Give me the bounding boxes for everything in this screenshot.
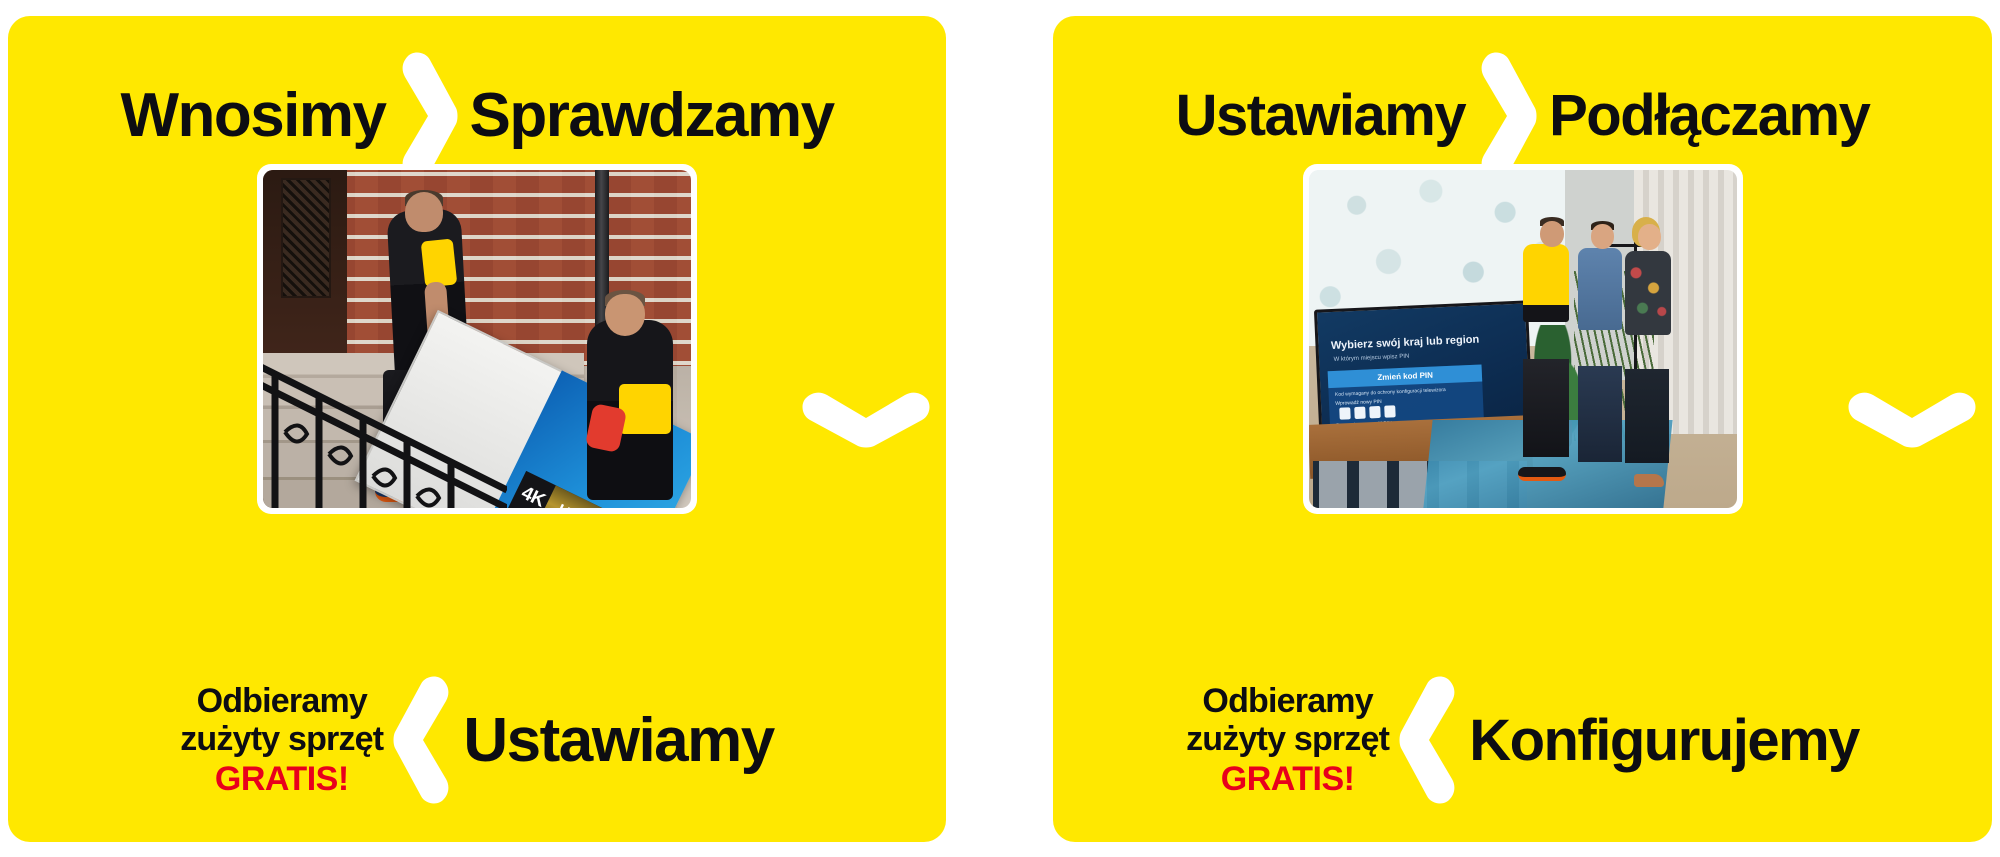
installer-head (1540, 221, 1564, 247)
tv-pin-box (1370, 406, 1382, 418)
chevron-right-icon (1475, 50, 1539, 182)
recycle-line-1: Odbieramy (180, 682, 383, 720)
installer-shoes (1518, 467, 1566, 481)
chevron-left-icon (1397, 674, 1461, 806)
top-step-row: Ustawiamy Podłączamy (1053, 50, 1992, 182)
tv-screen-title: Wybierz swój kraj lub region (1331, 334, 1480, 352)
tv-pin-box (1355, 406, 1367, 418)
step-label-sprawdzamy: Sprawdzamy (470, 83, 834, 148)
customer-woman-shoes (1634, 474, 1664, 487)
iron-handrail (263, 282, 507, 508)
photo-frame-installation: Wybierz swój kraj lub region W którym mi… (1303, 164, 1743, 514)
service-flow-card-left: Wnosimy Sprawdzamy (8, 16, 946, 842)
recycle-gratis-badge: GRATIS! (1186, 760, 1389, 798)
step-label-podlaczamy: Podłączamy (1549, 86, 1869, 147)
installer-torso (1523, 244, 1569, 322)
chevron-right-icon (396, 50, 460, 182)
bottom-step-row: Odbieramy zużyty sprzęt GRATIS! Konfigur… (1053, 674, 1992, 806)
chevron-down-wrapper (800, 386, 932, 452)
service-flow-card-right: Ustawiamy Podłączamy Wybierz swój kraj l… (1053, 16, 1992, 842)
chevron-down-wrapper (1846, 386, 1978, 452)
promo-banner: Wnosimy Sprawdzamy (0, 0, 2000, 857)
courier-front-shirt (619, 384, 671, 434)
step-label-ustawiamy-top: Ustawiamy (1176, 86, 1466, 147)
recycle-offer-block: Odbieramy zużyty sprzęt GRATIS! (180, 682, 383, 798)
installer-legs (1523, 359, 1569, 457)
chevron-down-icon (1846, 386, 1978, 452)
tv-screen-subtitle: W którym miejscu wpisz PIN (1334, 353, 1410, 362)
recycle-line-2: zużyty sprzęt (180, 720, 383, 758)
courier-rear-sleeve (421, 238, 458, 287)
step-label-konfigurujemy: Konfigurujemy (1469, 707, 1859, 774)
customer-woman-legs (1625, 369, 1669, 463)
step-label-wnosimy: Wnosimy (120, 83, 385, 148)
recycle-line-1: Odbieramy (1186, 682, 1389, 720)
courier-front-head (605, 294, 645, 336)
tv-pin-box (1340, 407, 1352, 419)
recycle-offer-block: Odbieramy zużyty sprzęt GRATIS! (1186, 682, 1389, 798)
chevron-down-icon (800, 386, 932, 452)
tv-pin-box (1385, 405, 1397, 417)
photo-frame-delivery: 4K ULTRA HD (257, 164, 697, 514)
door-grille (281, 178, 331, 298)
photo-installer-with-customers: Wybierz swój kraj lub region W którym mi… (1309, 170, 1737, 508)
customer-man-torso (1578, 248, 1622, 330)
tv-dialog-title: Zmień kod PIN (1328, 364, 1483, 388)
bottom-step-row: Odbieramy zużyty sprzęt GRATIS! Ustawiam… (8, 674, 946, 806)
customer-woman-torso (1625, 251, 1671, 335)
recycle-gratis-badge: GRATIS! (180, 760, 383, 798)
chevron-left-icon (391, 674, 455, 806)
step-label-ustawiamy: Ustawiamy (463, 705, 773, 776)
top-step-row: Wnosimy Sprawdzamy (8, 50, 946, 182)
customer-woman-head (1638, 224, 1661, 250)
courier-rear-head (405, 192, 443, 232)
photo-couriers-carrying-tv: 4K ULTRA HD (263, 170, 691, 508)
recycle-line-2: zużyty sprzęt (1186, 720, 1389, 758)
customer-man-legs (1578, 366, 1622, 462)
